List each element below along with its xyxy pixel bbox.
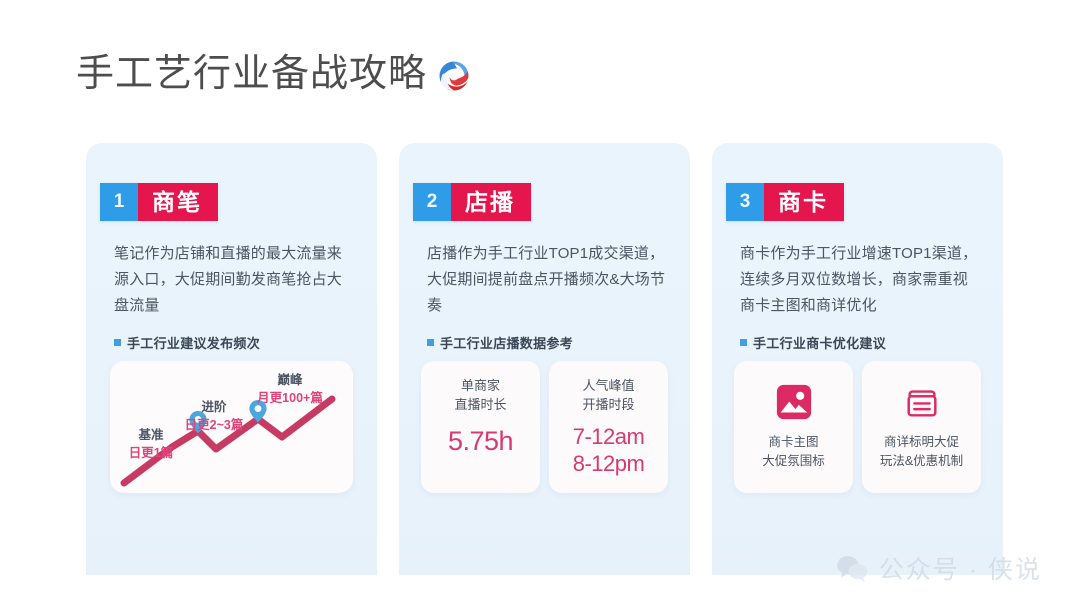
stat-value-line1: 7-12am xyxy=(573,423,645,450)
page-header: 手工艺行业备战攻略 xyxy=(76,52,471,96)
pinwheel-logo-icon xyxy=(437,59,471,93)
icon-tile-label-line2: 大促氛围标 xyxy=(762,452,825,471)
chart-label-dianfeng-name: 巅峰 xyxy=(277,372,303,387)
card-description: 商卡作为手工行业增速TOP1渠道，连续多月双位数增长，商家需重视商卡主图和商详优… xyxy=(740,241,980,319)
card-subheading: 手工行业店播数据参考 xyxy=(427,333,573,352)
icon-tile-label: 商详标明大促 玩法&优惠机制 xyxy=(880,433,963,471)
badge-number: 2 xyxy=(413,183,451,221)
card-subheading: 手工行业商卡优化建议 xyxy=(740,333,886,352)
icon-tile-label-line1: 商详标明大促 xyxy=(880,433,963,452)
card-badge: 3 商卡 xyxy=(726,183,844,221)
stat-tile-duration: 单商家 直播时长 5.75h xyxy=(421,361,540,493)
card-description: 笔记作为店铺和直播的最大流量来源入口，大促期间勤发商笔抢占大盘流量 xyxy=(114,241,354,319)
image-picture-icon xyxy=(775,383,813,421)
frequency-line-chart: 基准 日更1篇 进阶 日更2~3篇 巅峰 月更100+篇 xyxy=(110,361,353,493)
chart-label-jizhun-value: 日更1篇 xyxy=(129,445,173,460)
document-lines-icon xyxy=(903,383,941,421)
badge-label: 商卡 xyxy=(764,183,844,221)
icon-tile-label: 商卡主图 大促氛围标 xyxy=(762,433,825,471)
badge-label: 店播 xyxy=(451,183,531,221)
card-shangka[interactable]: 3 商卡 商卡作为手工行业增速TOP1渠道，连续多月双位数增长，商家需重视商卡主… xyxy=(712,143,1003,575)
card-subheading-text: 手工行业店播数据参考 xyxy=(440,333,573,352)
stat-value-line2: 8-12pm xyxy=(573,450,645,477)
square-bullet-icon xyxy=(427,339,434,346)
stat-label: 人气峰值 开播时段 xyxy=(582,376,634,414)
badge-label: 商笔 xyxy=(138,183,218,221)
cards-container: 1 商笔 笔记作为店铺和直播的最大流量来源入口，大促期间勤发商笔抢占大盘流量 手… xyxy=(86,143,1004,575)
chart-label-jinjie-name: 进阶 xyxy=(201,399,227,414)
page-title: 手工艺行业备战攻略 xyxy=(76,52,427,96)
card-badge: 2 店播 xyxy=(413,183,531,221)
stat-label-line1: 单商家 xyxy=(454,376,506,395)
stat-label-line2: 开播时段 xyxy=(582,395,634,414)
card-subheading-text: 手工行业商卡优化建议 xyxy=(753,333,886,352)
stats-container: 单商家 直播时长 5.75h 人气峰值 开播时段 7-12am 8-12pm xyxy=(421,361,668,493)
card-subheading: 手工行业建议发布频次 xyxy=(114,333,260,352)
chart-label-jizhun-name: 基准 xyxy=(137,427,164,442)
icon-tile-detail-page: 商详标明大促 玩法&优惠机制 xyxy=(862,361,981,493)
card-badge: 1 商笔 xyxy=(100,183,218,221)
icon-tile-label-line2: 玩法&优惠机制 xyxy=(880,452,963,471)
card-subheading-text: 手工行业建议发布频次 xyxy=(127,333,260,352)
stat-label-line1: 人气峰值 xyxy=(582,376,634,395)
card-description: 店播作为手工行业TOP1成交渠道，大促期间提前盘点开播频次&大场节奏 xyxy=(427,241,667,319)
square-bullet-icon xyxy=(114,339,121,346)
stat-tile-peak-hours: 人气峰值 开播时段 7-12am 8-12pm xyxy=(549,361,668,493)
stat-label: 单商家 直播时长 xyxy=(454,376,506,414)
chart-label-jinjie-value: 日更2~3篇 xyxy=(185,417,244,432)
card-shangbi[interactable]: 1 商笔 笔记作为店铺和直播的最大流量来源入口，大促期间勤发商笔抢占大盘流量 手… xyxy=(86,143,377,575)
stat-label-line2: 直播时长 xyxy=(454,395,506,414)
square-bullet-icon xyxy=(740,339,747,346)
wechat-icon xyxy=(835,554,869,582)
watermark: 公众号 · 侠说 xyxy=(835,550,1042,586)
icon-tile-label-line1: 商卡主图 xyxy=(762,433,825,452)
watermark-text: 公众号 · 侠说 xyxy=(879,550,1042,586)
icon-tile-main-image: 商卡主图 大促氛围标 xyxy=(734,361,853,493)
badge-number: 1 xyxy=(100,183,138,221)
card-dianbo[interactable]: 2 店播 店播作为手工行业TOP1成交渠道，大促期间提前盘点开播频次&大场节奏 … xyxy=(399,143,690,575)
icon-tiles-container: 商卡主图 大促氛围标 商详标明大促 玩法&优惠机制 xyxy=(734,361,981,493)
stat-value: 5.75h xyxy=(448,426,513,456)
frequency-chart-panel: 基准 日更1篇 进阶 日更2~3篇 巅峰 月更100+篇 xyxy=(110,361,353,493)
chart-label-dianfeng-value: 月更100+篇 xyxy=(256,390,323,405)
badge-number: 3 xyxy=(726,183,764,221)
